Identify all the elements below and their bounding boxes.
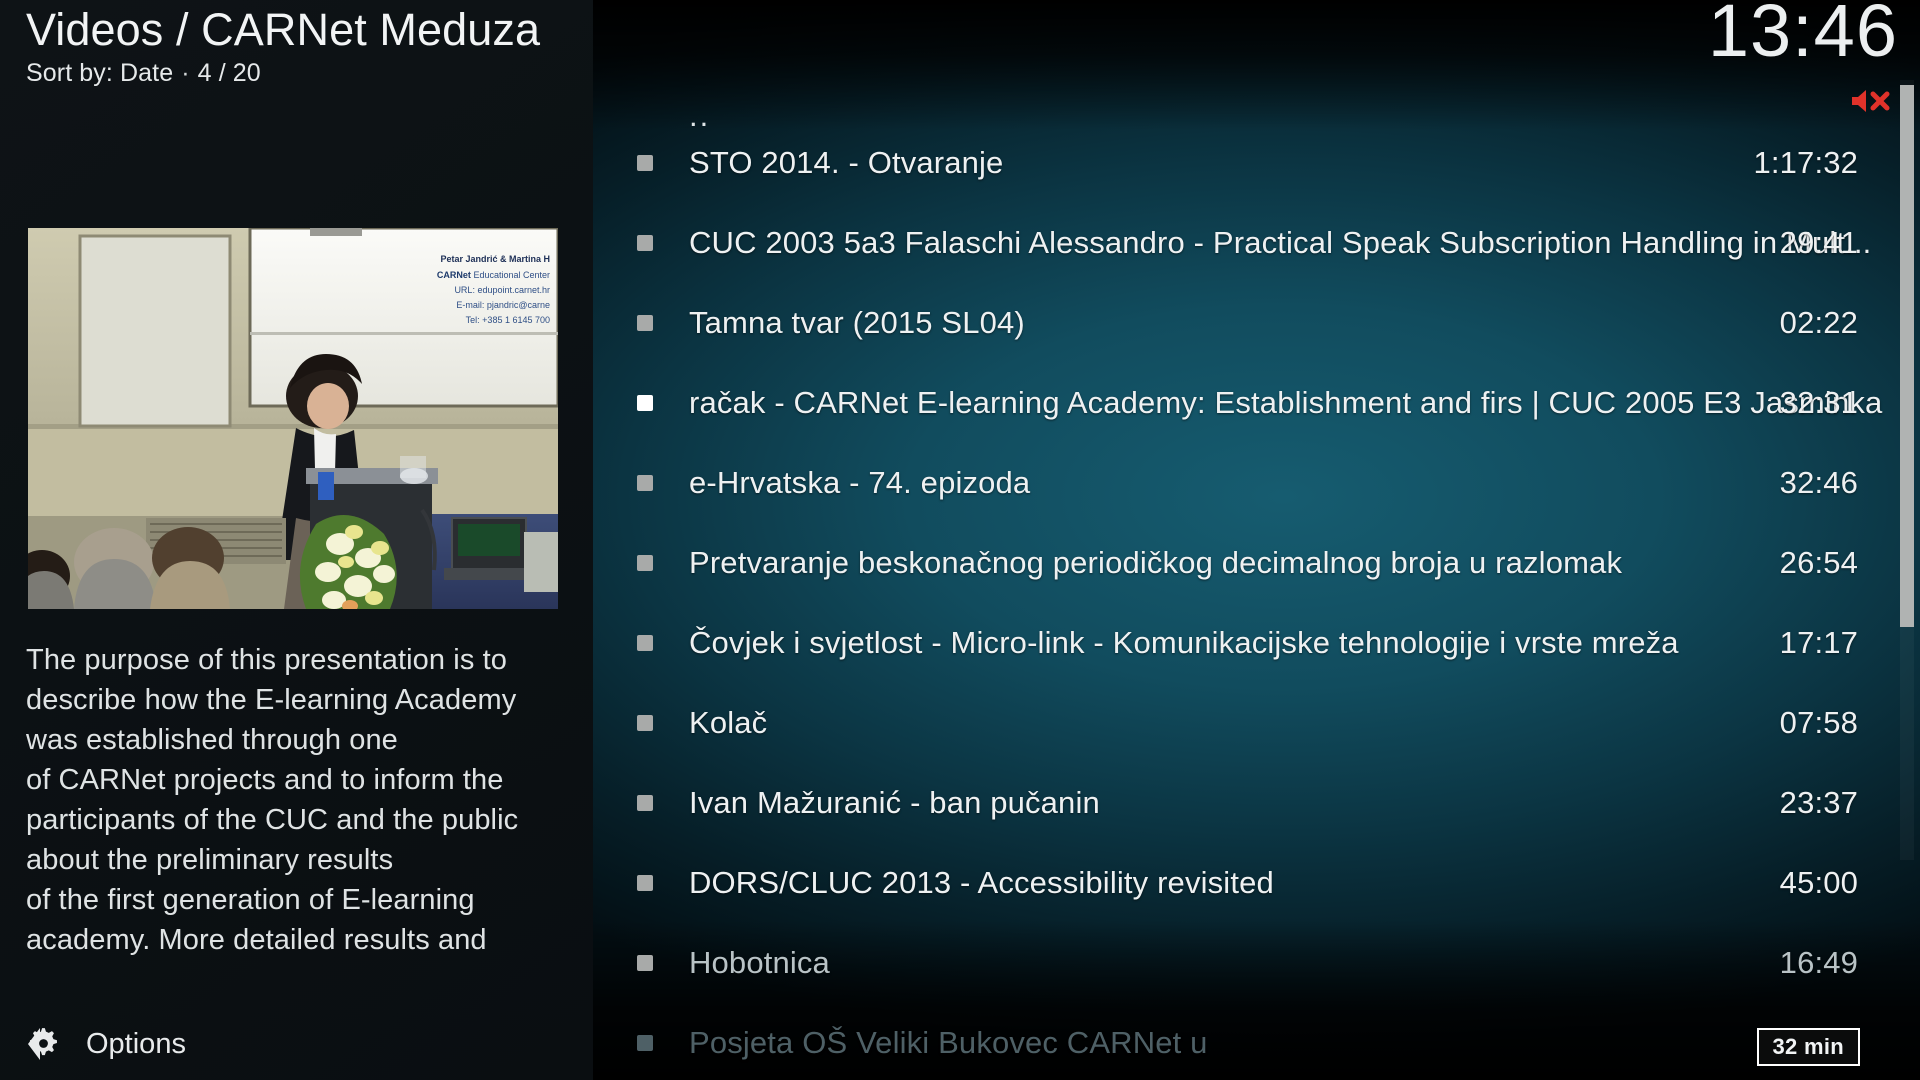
list-item[interactable]: DORS/CLUC 2013 - Accessibility revisited…	[593, 843, 1920, 923]
video-list: .. STO 2014. - Otvaranje1:17:32CUC 2003 …	[593, 0, 1920, 1080]
clock: 13:46	[1708, 0, 1898, 68]
list-item[interactable]: CUC 2003 5a3 Falaschi Alessandro - Pract…	[593, 203, 1920, 283]
list-item-duration: 45:00	[1780, 865, 1858, 901]
separator-dot: ·	[173, 59, 197, 87]
kodi-media-browser: .. STO 2014. - Otvaranje1:17:32CUC 2003 …	[0, 0, 1920, 1080]
list-item-duration: 32:46	[1780, 465, 1858, 501]
list-item-duration: 17:17	[1780, 625, 1858, 661]
description-line: of CARNet projects and to inform the	[26, 760, 564, 800]
breadcrumb-header: Videos / CARNet Meduza Sort by: Date·4 /…	[26, 6, 586, 88]
list-item-label: Ivan Mažuranić - ban pučanin	[689, 785, 1100, 821]
list-item-bullet-icon	[637, 555, 653, 571]
list-item-duration: 32:31	[1780, 385, 1858, 421]
description-line: The purpose of this presentation is to	[26, 640, 564, 680]
back-gear-icon	[24, 1024, 66, 1064]
thumbnail-image: Petar Jandrić & Martina H CARNet Educati…	[28, 228, 558, 609]
description-line: of the first generation of E-learning	[26, 880, 564, 920]
list-item-duration: 1:17:32	[1754, 145, 1858, 181]
list-item-bullet-icon	[637, 955, 653, 971]
list-item-label: Posjeta OŠ Veliki Bukovec CARNet u	[689, 1025, 1208, 1061]
list-item-label: Tamna tvar (2015 SL04)	[689, 305, 1025, 341]
list-item-label: Hobotnica	[689, 945, 830, 981]
list-item-bullet-icon	[637, 315, 653, 331]
description-line: was established through one	[26, 720, 564, 760]
list-item[interactable]: STO 2014. - Otvaranje1:17:32	[593, 123, 1920, 203]
list-item-duration: 26:54	[1780, 545, 1858, 581]
list-item[interactable]: Tamna tvar (2015 SL04)02:22	[593, 283, 1920, 363]
options-label: Options	[86, 1028, 186, 1061]
description-line: participants of the CUC and the public	[26, 800, 564, 840]
list-item[interactable]: Pretvaranje beskonačnog periodičkog deci…	[593, 523, 1920, 603]
description-line: describe how the E-learning Academy	[26, 680, 564, 720]
list-item-bullet-icon	[637, 395, 653, 411]
description-line: about the preliminary results	[26, 840, 564, 880]
list-item-bullet-icon	[637, 875, 653, 891]
video-thumbnail: Petar Jandrić & Martina H CARNet Educati…	[28, 228, 558, 609]
list-item-bullet-icon	[637, 475, 653, 491]
list-item-label: STO 2014. - Otvaranje	[689, 145, 1003, 181]
sort-label[interactable]: Sort by: Date	[26, 59, 173, 87]
list-item-bullet-icon	[637, 235, 653, 251]
list-item-label: CUC 2003 5a3 Falaschi Alessandro - Pract…	[689, 225, 1871, 261]
svg-text:E-mail: pjandric@carne: E-mail: pjandric@carne	[456, 300, 550, 310]
list-item[interactable]: Hobotnica16:49	[593, 923, 1920, 1003]
list-item-label: Čovjek i svjetlost - Micro-link - Komuni…	[689, 625, 1679, 661]
list-item-label: račak - CARNet E-learning Academy: Estab…	[689, 385, 1882, 421]
list-item-duration: 23:37	[1780, 785, 1858, 821]
list-item[interactable]: Kolač07:58	[593, 683, 1920, 763]
speaker-muted-icon	[1850, 86, 1892, 116]
list-item-bullet-icon	[637, 1035, 653, 1051]
sidebar: Videos / CARNet Meduza Sort by: Date·4 /…	[0, 0, 593, 1080]
list-item-duration: 29:41	[1780, 225, 1858, 261]
description-line: academy. More detailed results and	[26, 920, 564, 960]
list-item-bullet-icon	[637, 795, 653, 811]
svg-text:URL: edupoint.carnet.hr: URL: edupoint.carnet.hr	[454, 285, 550, 295]
list-item[interactable]: e-Hrvatska - 74. epizoda32:46	[593, 443, 1920, 523]
svg-text:Tel: +385 1 6145 700: Tel: +385 1 6145 700	[466, 315, 550, 325]
list-item-label: Kolač	[689, 705, 767, 741]
list-item[interactable]: Čovjek i svjetlost - Micro-link - Komuni…	[593, 603, 1920, 683]
video-description: The purpose of this presentation is tode…	[26, 640, 564, 960]
list-item-duration: 07:58	[1780, 705, 1858, 741]
options-button[interactable]: Options	[14, 1018, 196, 1070]
list-item-bullet-icon	[637, 715, 653, 731]
list-item-bullet-icon	[637, 635, 653, 651]
sort-status-bar: Sort by: Date·4 / 20	[26, 59, 586, 88]
list-item-bullet-icon	[637, 155, 653, 171]
list-item-duration: 02:22	[1780, 305, 1858, 341]
page-title: Videos / CARNet Meduza	[26, 6, 586, 55]
list-scrollbar-thumb[interactable]	[1900, 85, 1914, 627]
list-item-duration: 16:49	[1780, 945, 1858, 981]
list-item[interactable]: račak - CARNet E-learning Academy: Estab…	[593, 363, 1920, 443]
position-counter: 4 / 20	[198, 59, 261, 87]
svg-text:CARNet Educational Center: CARNet Educational Center	[437, 270, 550, 280]
duration-badge: 32 min	[1757, 1028, 1861, 1066]
svg-text:Petar Jandrić & Martina H: Petar Jandrić & Martina H	[440, 254, 550, 264]
list-item[interactable]: Posjeta OŠ Veliki Bukovec CARNet u06:57	[593, 1003, 1920, 1080]
list-item-label: Pretvaranje beskonačnog periodičkog deci…	[689, 545, 1622, 581]
list-item-label: DORS/CLUC 2013 - Accessibility revisited	[689, 865, 1274, 901]
list-item-label: e-Hrvatska - 74. epizoda	[689, 465, 1030, 501]
list-item[interactable]: Ivan Mažuranić - ban pučanin23:37	[593, 763, 1920, 843]
